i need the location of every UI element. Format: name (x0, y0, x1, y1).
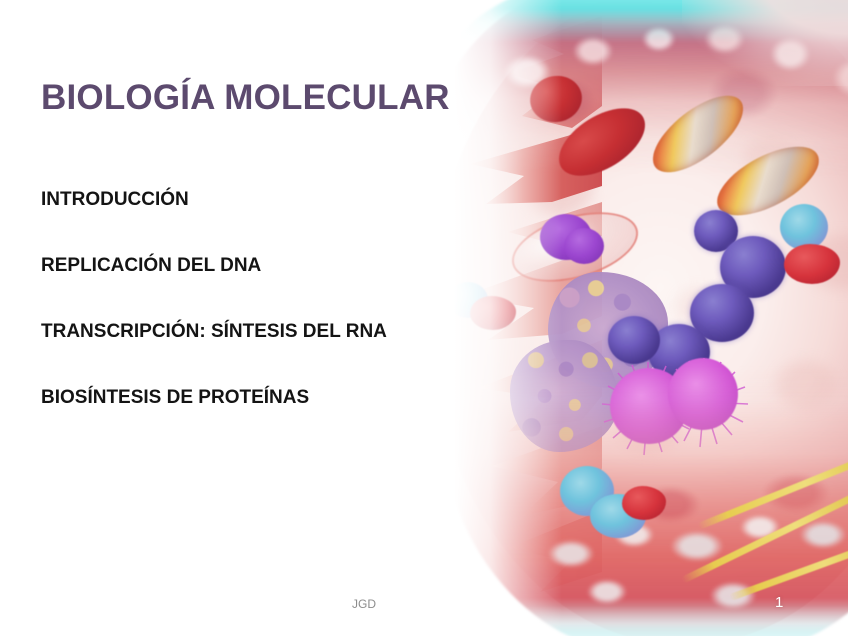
red-cluster (470, 296, 516, 330)
nucleoid-organelle (608, 316, 660, 364)
teal-blob (560, 466, 614, 516)
purple-granule (540, 214, 592, 260)
nucleoid-organelle (720, 236, 786, 298)
cytoplasm-texture (472, 86, 848, 526)
red-blood-cell (526, 71, 586, 127)
nucleoid-organelle (648, 324, 710, 380)
red-blood-cell (548, 95, 657, 190)
slide: BIOLOGÍA MOLECULAR INTRODUCCIÓN REPLICAC… (0, 0, 848, 636)
nucleoid-organelle (690, 284, 754, 342)
cell-cross-section-illustration (412, 0, 848, 636)
spiky-vesicle-filaments (588, 350, 758, 470)
microtubule (729, 526, 848, 601)
list-item: TRANSCRIPCIÓN: SÍNTESIS DEL RNA (41, 322, 387, 342)
microtubule (697, 437, 848, 530)
nucleoid-organelle (694, 210, 738, 252)
spiky-vesicle (610, 368, 688, 444)
mitochondrion (707, 133, 829, 230)
red-cluster (784, 244, 840, 284)
teal-blob (590, 494, 646, 538)
cell-body (430, 0, 848, 636)
bottom-membrane-arc (440, 366, 848, 636)
red-cluster (622, 486, 666, 520)
list-item: BIOSÍNTESIS DE PROTEÍNAS (41, 388, 387, 408)
list-item: INTRODUCCIÓN (41, 190, 387, 210)
ribosome-cluster (548, 272, 668, 388)
agenda-list: INTRODUCCIÓN REPLICACIÓN DEL DNA TRANSCR… (41, 190, 387, 454)
purple-granule (564, 228, 604, 264)
mitochondrion (641, 82, 756, 186)
footer-author: JGD (352, 597, 376, 611)
list-item: REPLICACIÓN DEL DNA (41, 256, 387, 276)
teal-blob (780, 204, 828, 250)
spiky-vesicle (668, 358, 738, 430)
background-tint (682, 0, 848, 86)
bottom-membrane-texture (472, 436, 848, 626)
teal-blob (448, 282, 488, 318)
cyan-membrane-highlight (446, 0, 848, 88)
page-title: BIOLOGÍA MOLECULAR (41, 78, 450, 118)
page-number: 1 (775, 594, 783, 611)
transport-vesicle (504, 199, 646, 294)
top-membrane-texture (452, 0, 848, 144)
top-membrane-arc (422, 0, 848, 222)
microtubule (681, 468, 848, 584)
ribosome-cluster (510, 340, 618, 452)
